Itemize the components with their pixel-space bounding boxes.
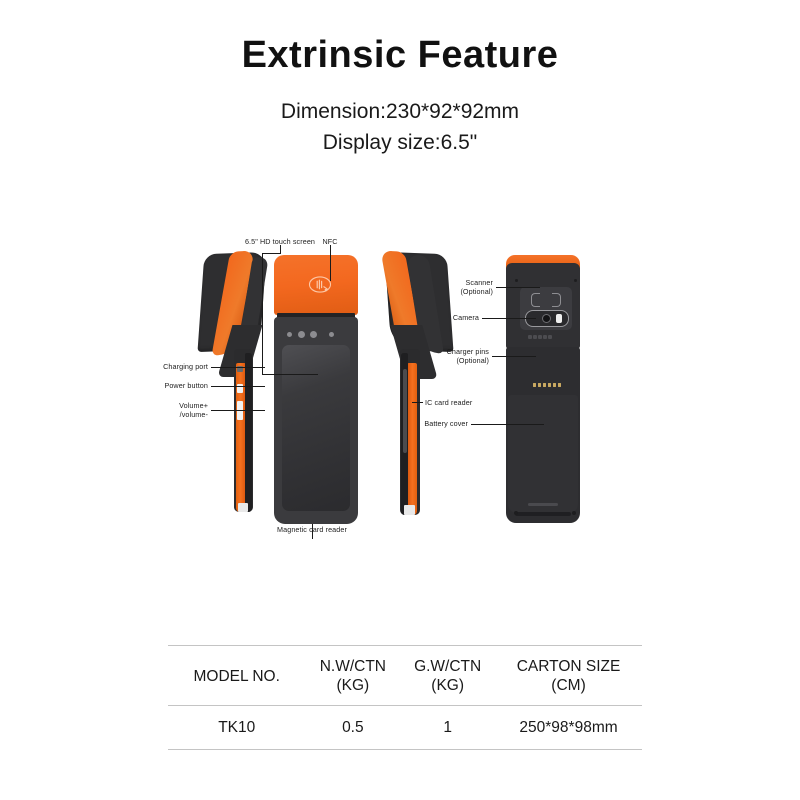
leader-line-touch-screen-vertical bbox=[262, 253, 263, 375]
leader-line-ic-card-reader bbox=[412, 402, 423, 403]
nfc-icon bbox=[308, 275, 332, 294]
cell-gross-weight: 1 bbox=[400, 706, 495, 750]
leader-line-touch-screen-horizontal bbox=[262, 374, 318, 375]
scanner-corner-bracket-icon bbox=[552, 298, 561, 307]
bottom-edge-slot bbox=[515, 512, 571, 516]
device-body-front-edge bbox=[245, 353, 252, 512]
charger-pin bbox=[553, 383, 556, 387]
sensor-dot bbox=[298, 331, 305, 338]
charger-pin bbox=[543, 383, 546, 387]
callout-battery-cover: Battery cover bbox=[409, 419, 468, 428]
column-header-line2: (CM) bbox=[495, 676, 642, 695]
front-sensor-row bbox=[287, 331, 347, 339]
column-header-line1: G.W/CTN bbox=[400, 657, 495, 676]
screw-dot bbox=[572, 511, 576, 515]
leader-line-nfc bbox=[330, 245, 331, 281]
cell-net-weight: 0.5 bbox=[305, 706, 400, 750]
charger-pin bbox=[533, 383, 536, 387]
leader-line-touch-screen-join bbox=[262, 253, 281, 254]
screw-dot bbox=[514, 511, 518, 515]
leader-line-power-button bbox=[211, 386, 265, 387]
scanner-corner-bracket-icon bbox=[531, 298, 540, 307]
device-bottom-foot bbox=[238, 503, 248, 512]
scanner-camera-module bbox=[520, 287, 572, 330]
sensor-dot bbox=[310, 331, 317, 338]
charger-pins bbox=[533, 383, 561, 387]
column-header-line2: (KG) bbox=[400, 676, 495, 695]
column-header-net-weight: N.W/CTN (KG) bbox=[305, 646, 400, 706]
dimension-text: Dimension:230*92*92mm bbox=[0, 100, 800, 124]
callout-ic-card-reader: IC card reader bbox=[425, 398, 495, 407]
device-rear-view bbox=[503, 255, 583, 525]
rear-upper-shell bbox=[506, 263, 580, 349]
column-header-line1: N.W/CTN bbox=[305, 657, 400, 676]
device-bottom-foot bbox=[404, 505, 415, 515]
page-title: Extrinsic Feature bbox=[0, 34, 800, 77]
speaker-grill bbox=[528, 335, 552, 339]
callout-nfc: NFC bbox=[312, 237, 348, 246]
column-header-gross-weight: G.W/CTN (KG) bbox=[400, 646, 495, 706]
leader-line-battery-cover bbox=[471, 424, 544, 425]
sensor-dot bbox=[329, 332, 334, 337]
camera-flash-icon bbox=[556, 314, 562, 323]
column-header-line2: (KG) bbox=[305, 676, 400, 695]
scanner-window bbox=[529, 291, 563, 307]
grill-slot bbox=[528, 335, 532, 339]
charger-pin bbox=[538, 383, 541, 387]
sensor-dot bbox=[287, 332, 292, 337]
column-header-line1: CARTON SIZE bbox=[495, 657, 642, 676]
leader-line-volume bbox=[211, 410, 265, 411]
grill-slot bbox=[543, 335, 547, 339]
cell-carton-size: 250*98*98mm bbox=[495, 706, 642, 750]
battery-cover-panel bbox=[508, 395, 578, 513]
display-size-text: Display size:6.5" bbox=[0, 131, 800, 155]
grill-slot bbox=[533, 335, 537, 339]
cell-model-no: TK10 bbox=[168, 706, 305, 750]
device-front-view bbox=[270, 255, 362, 527]
table-row: TK10 0.5 1 250*98*98mm bbox=[168, 706, 642, 750]
screw-dot bbox=[574, 279, 577, 282]
leader-line-touch-screen-stub bbox=[280, 245, 281, 253]
camera-lens-icon bbox=[543, 315, 550, 322]
callout-magnetic-card-reader: Magnetic card reader bbox=[264, 525, 360, 534]
column-header-carton-size: CARTON SIZE (CM) bbox=[495, 646, 642, 706]
grill-slot bbox=[548, 335, 552, 339]
bottom-speaker-slot bbox=[528, 503, 558, 506]
leader-line-camera bbox=[482, 318, 536, 319]
leader-line-scanner bbox=[496, 287, 540, 288]
touch-screen-display bbox=[282, 345, 350, 511]
column-header-line1: MODEL NO. bbox=[168, 667, 305, 686]
front-orange-top-cover bbox=[274, 255, 358, 315]
callout-camera: Camera bbox=[437, 313, 479, 322]
leader-line-charger-pins bbox=[492, 356, 536, 357]
callout-scanner: Scanner (Optional) bbox=[441, 278, 493, 296]
table-header-row: MODEL NO. N.W/CTN (KG) G.W/CTN (KG) CART… bbox=[168, 646, 642, 706]
grill-slot bbox=[538, 335, 542, 339]
leader-line-charging-port bbox=[211, 367, 265, 368]
rear-lower-shell bbox=[506, 347, 580, 523]
screw-dot bbox=[515, 279, 518, 282]
callout-power-button: Power button bbox=[142, 381, 208, 390]
charger-pin bbox=[558, 383, 561, 387]
spec-table: MODEL NO. N.W/CTN (KG) G.W/CTN (KG) CART… bbox=[168, 645, 642, 750]
product-diagram: Charging port Power button Volume+ /volu… bbox=[0, 225, 800, 555]
ic-card-reader-slot bbox=[403, 369, 407, 453]
callout-volume-buttons: Volume+ /volume- bbox=[148, 401, 208, 419]
device-body-orange-stripe bbox=[407, 363, 417, 515]
callout-charger-pins: Charger pins (Optional) bbox=[428, 347, 489, 365]
callout-charging-port: Charging port bbox=[146, 362, 208, 371]
column-header-model-no: MODEL NO. bbox=[168, 646, 305, 706]
charger-pin bbox=[548, 383, 551, 387]
